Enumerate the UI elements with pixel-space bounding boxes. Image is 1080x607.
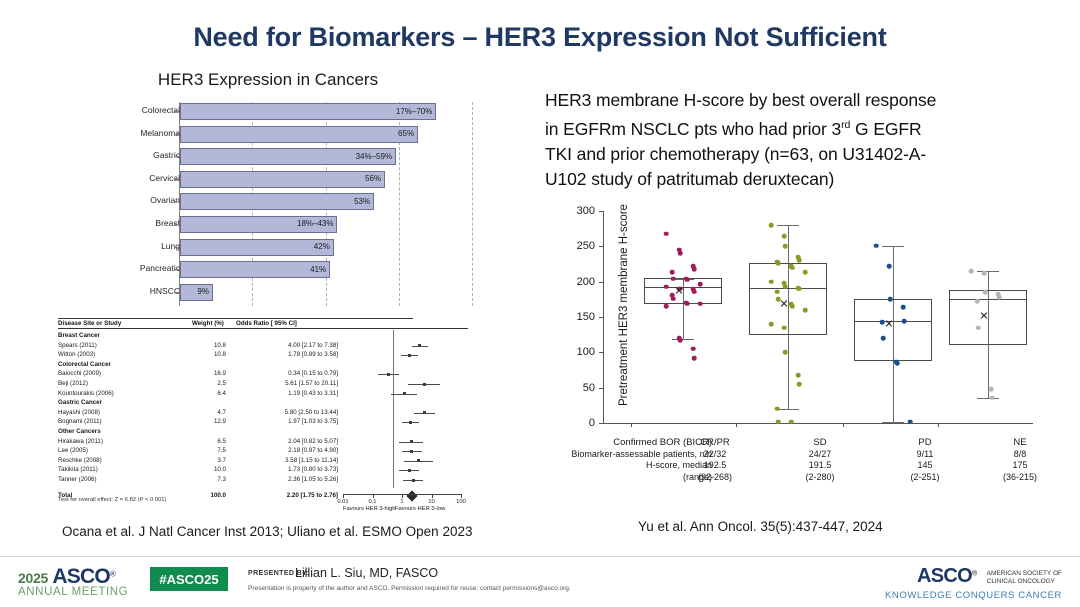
boxplot-mean-marker: ✕ <box>979 312 988 323</box>
data-point <box>685 277 690 282</box>
forest-odds-ratio: 2.36 [1.05 to 5.26] <box>230 476 338 483</box>
data-point <box>982 271 987 276</box>
slide-root: Need for Biomarkers – HER3 Expression No… <box>0 0 1080 607</box>
data-point <box>698 282 703 287</box>
data-point <box>990 395 995 400</box>
forest-study-name: Reschke (2008) <box>58 457 102 464</box>
bar-category-label: Melanoma <box>140 128 180 138</box>
forest-weight: 16.9 <box>188 370 226 377</box>
data-point <box>908 419 913 424</box>
forest-weight: 6.4 <box>188 390 226 397</box>
boxplot-mean-marker: ✕ <box>884 320 893 331</box>
y-axis-tick-label: 250 <box>577 240 595 252</box>
permission-text: Presentation is property of the author a… <box>248 585 571 592</box>
divider <box>58 318 413 319</box>
data-point <box>783 244 788 249</box>
bar-value-label: 42% <box>314 242 330 251</box>
left-panel: HER3 Expression in Cancers Colorectal17%… <box>58 70 478 515</box>
bar-category-label: Gastric <box>153 150 180 160</box>
heading-ordinal: rd <box>841 119 850 131</box>
asco-wordmark: ASCO <box>917 565 972 588</box>
summary-table-cell: 24/27 <box>809 449 832 459</box>
bar-value-label: 56% <box>365 174 381 183</box>
bar-value-label: 53% <box>354 197 370 206</box>
boxplot-whisker-cap <box>777 225 799 226</box>
bar-value-label: 17%–70% <box>396 107 432 116</box>
page-title: Need for Biomarkers – HER3 Expression No… <box>0 22 1080 53</box>
boxplot-median-line <box>949 299 1027 300</box>
summary-table-cell: (92-268) <box>698 472 732 482</box>
bar-track: 18%–43% <box>180 216 473 233</box>
hashtag-badge: #ASCO25 <box>150 567 228 591</box>
bar-tick <box>174 134 179 135</box>
summary-table-row-label: Biomarker-assessable patients, n/n <box>571 449 712 459</box>
forest-weight: 2.5 <box>188 380 226 387</box>
bar-value-label: 9% <box>197 287 209 296</box>
summary-table-cell: (2-251) <box>910 472 939 482</box>
bar-value-label: 34%–59% <box>356 152 392 161</box>
forest-odds-ratio: 1.97 [1.03 to 3.75] <box>230 418 338 425</box>
summary-table-row: (range)(92-268)(2-280)(2-251)(36-215) <box>520 472 1045 484</box>
data-point <box>776 261 781 266</box>
right-panel: HER3 membrane H-score by best overall re… <box>545 88 1045 192</box>
data-point <box>692 267 697 272</box>
forest-odds-ratio: 3.58 [1.15 to 11.14] <box>230 457 338 464</box>
y-axis-tick <box>599 246 603 247</box>
boxplot-whisker-cap <box>672 339 694 340</box>
forest-study-name: Spears (2011) <box>58 342 97 349</box>
summary-table-cell: 175 <box>1012 460 1027 470</box>
y-axis-tick-label: 0 <box>589 417 595 429</box>
summary-table-cell: (2-280) <box>805 472 834 482</box>
data-point <box>692 289 697 294</box>
logo-asco-wordmark: ASCO <box>52 565 109 588</box>
bar-row: Colorectal17%–70% <box>58 102 478 125</box>
forest-weight: 10.8 <box>188 342 226 349</box>
y-axis-tick-label: 300 <box>577 205 595 217</box>
summary-table-cell: PD <box>918 437 931 448</box>
heading-line-3: TKI and prior chemotherapy (n=63, on U31… <box>545 144 926 164</box>
summary-table-cell: 192.5 <box>704 460 727 470</box>
citation-left: Ocana et al. J Natl Cancer Inst 2013; Ul… <box>62 524 472 539</box>
summary-table-row: H-score, median192.5191.5145175 <box>520 460 1045 472</box>
y-axis-tick <box>599 423 603 424</box>
forest-odds-ratio: 1.78 [0.89 to 3.58] <box>230 351 338 358</box>
bar-track: 56% <box>180 171 473 188</box>
asco-tagline: KNOWLEDGE CONQUERS CANCER <box>885 590 1062 601</box>
bar-fill <box>180 171 385 188</box>
boxplot-heading: HER3 membrane H-score by best overall re… <box>545 88 1045 192</box>
bar-track: 42% <box>180 239 473 256</box>
divider <box>58 328 468 329</box>
bar-row: HNSCC9% <box>58 283 478 306</box>
forest-row: Reschke (2008)3.73.58 [1.15 to 11.14] <box>58 457 478 467</box>
bar-tick <box>174 201 179 202</box>
bar-row: Breast18%–43% <box>58 215 478 238</box>
heading-line-2-post: G EGFR <box>850 119 921 139</box>
forest-study-name: Baiocchi (2009) <box>58 370 101 377</box>
summary-table-cell: CR/PR <box>700 437 730 448</box>
y-axis-tick <box>599 352 603 353</box>
data-point <box>797 258 802 263</box>
data-point <box>902 319 907 324</box>
boxplot-whisker-cap <box>882 422 904 423</box>
y-axis-tick <box>599 317 603 318</box>
boxplot-median-line <box>749 288 827 289</box>
bar-track: 41% <box>180 261 473 278</box>
y-axis-tick-label: 50 <box>583 382 595 394</box>
data-point <box>691 347 696 352</box>
data-point <box>775 407 780 412</box>
data-point <box>769 223 774 228</box>
bar-category-label: Colorectal <box>142 105 180 115</box>
y-axis-tick <box>599 211 603 212</box>
forest-weight: 6.5 <box>188 438 226 445</box>
forest-weight: 4.7 <box>188 409 226 416</box>
forest-odds-ratio: 2.04 [0.82 to 5.07] <box>230 438 338 445</box>
data-point <box>797 382 802 387</box>
bar-row: Gastric34%–59% <box>58 147 478 170</box>
boxplot-whisker-cap <box>977 271 999 272</box>
data-point <box>997 295 1002 300</box>
forest-row: Other Cancers <box>58 428 478 438</box>
forest-row: Hayashi (2008)4.75.80 [2.50 to 13.44] <box>58 409 478 419</box>
bar-chart-title: HER3 Expression in Cancers <box>58 70 478 90</box>
forest-row: Tanner (2006)7.32.36 [1.05 to 5.26] <box>58 476 478 486</box>
logo-annual-meeting: ANNUAL MEETING <box>18 586 138 598</box>
data-point <box>803 270 808 275</box>
forest-study-name: Gastric Cancer <box>58 399 102 406</box>
boxplot-area: 050100150200250300✕✕✕✕ <box>603 211 1033 423</box>
bar-track: 17%–70% <box>180 103 473 120</box>
boxplot-mean-marker: ✕ <box>674 286 683 297</box>
forest-row: Lee (2005)7.52.18 [0.97 to 4.90] <box>58 447 478 457</box>
data-point <box>887 264 892 269</box>
x-axis-tick <box>736 423 737 427</box>
bar-fill <box>180 239 334 256</box>
data-point <box>895 361 900 366</box>
data-point <box>881 336 886 341</box>
summary-table-cell: 9/11 <box>917 449 934 459</box>
bar-track: 34%–59% <box>180 148 473 165</box>
bar-row: Lung42% <box>58 238 478 261</box>
forest-odds-ratio: 1.73 [0.80 to 3.73] <box>230 466 338 473</box>
forest-study-name: Witton (2003) <box>58 351 95 358</box>
bar-value-label: 18%–43% <box>297 219 333 228</box>
y-axis-tick <box>599 282 603 283</box>
boxplot-summary-table: Confirmed BOR (BICR)CR/PRSDPDNEBiomarker… <box>520 437 1045 483</box>
summary-table-cell: 8/8 <box>1014 449 1027 459</box>
data-point <box>671 277 676 282</box>
registered-mark-icon: ® <box>972 571 977 578</box>
bar-category-label: Cervical <box>149 173 180 183</box>
forest-study-name: Bognami (2011) <box>58 418 102 425</box>
data-point <box>803 308 808 313</box>
data-point <box>983 290 988 295</box>
bar-row: Ovarian53% <box>58 192 478 215</box>
forest-odds-ratio: 5.61 [1.57 to 20.11] <box>230 380 338 387</box>
forest-row: Witton (2003)10.81.78 [0.89 to 3.58] <box>58 351 478 361</box>
summary-table-cell: 145 <box>917 460 932 470</box>
bar-category-label: Pancreatic <box>140 263 180 273</box>
bar-row: Melanoma65% <box>58 125 478 148</box>
data-point <box>782 325 787 330</box>
forest-study-name: Hayashi (2008) <box>58 409 100 416</box>
forest-study-name: Total <box>58 492 72 499</box>
forest-odds-ratio: 2.20 [1.75 to 2.76] <box>230 492 338 499</box>
summary-table-row: Confirmed BOR (BICR)CR/PRSDPDNE <box>520 437 1045 449</box>
summary-table-cell: 22/32 <box>704 449 727 459</box>
forest-header-odds-ratio: Odds Ratio [ 95% CI] <box>236 320 297 327</box>
forest-study-name: Colorectal Cancer <box>58 361 111 368</box>
forest-row: Kountourakis (2006)6.41.19 [0.43 to 3.31… <box>58 390 478 400</box>
bar-row: Pancreatic41% <box>58 260 478 283</box>
data-point <box>790 265 795 270</box>
data-point <box>775 289 780 294</box>
society-name: AMERICAN SOCIETY OF CLINICAL ONCOLOGY <box>987 570 1062 586</box>
forest-odds-ratio: 2.18 [0.97 to 4.90] <box>230 447 338 454</box>
forest-weight: 7.3 <box>188 476 226 483</box>
boxplot-whisker-cap <box>777 409 799 410</box>
x-axis-line <box>603 423 1033 424</box>
data-point <box>874 243 879 248</box>
presenter-name: Lillian L. Siu, MD, FASCO <box>295 566 438 580</box>
x-axis-tick <box>938 423 939 427</box>
forest-study-name: Other Cancers <box>58 428 101 435</box>
data-point <box>670 270 675 275</box>
heading-line-1: HER3 membrane H-score by best overall re… <box>545 90 936 110</box>
heading-line-4: U102 study of patritumab deruxtecan) <box>545 169 834 189</box>
data-point <box>976 325 981 330</box>
bar-row: Cervical56% <box>58 170 478 193</box>
heading-line-2-pre: in EGFRm NSCLC pts who had prior 3 <box>545 119 841 139</box>
bar-category-label: Ovarian <box>150 195 180 205</box>
boxplot-whisker-cap <box>882 246 904 247</box>
forest-weight: 10.8 <box>188 351 226 358</box>
bar-category-label: HNSCC <box>150 286 180 296</box>
her3-expression-bar-chart: Colorectal17%–70%Melanoma65%Gastric34%–5… <box>58 102 478 306</box>
summary-table-row: Biomarker-assessable patients, n/n22/322… <box>520 449 1045 461</box>
bar-tick <box>174 269 179 270</box>
bar-fill <box>180 126 418 143</box>
bar-value-label: 65% <box>398 129 414 138</box>
data-point <box>664 231 669 236</box>
bar-category-label: Lung <box>161 241 180 251</box>
forest-row: Colorectal Cancer <box>58 361 478 371</box>
asco-annual-meeting-logo: 2025 ASCO® ANNUAL MEETING <box>18 565 138 598</box>
forest-study-name: Hirakawa (2011) <box>58 438 103 445</box>
bar-track: 65% <box>180 126 473 143</box>
data-point <box>769 279 774 284</box>
bar-tick <box>174 156 179 157</box>
data-point <box>989 387 994 392</box>
data-point <box>796 373 801 378</box>
society-line-2: CLINICAL ONCOLOGY <box>987 578 1055 585</box>
data-point <box>789 419 794 424</box>
data-point <box>692 356 697 361</box>
bar-tick <box>174 179 179 180</box>
data-point <box>782 234 787 239</box>
forest-row: Beji (2012)2.55.61 [1.57 to 20.11] <box>58 380 478 390</box>
y-axis-line <box>603 211 604 423</box>
boxplot-mean-marker: ✕ <box>779 299 788 310</box>
forest-row: Spears (2011)10.84.00 [2.17 to 7.38] <box>58 342 478 352</box>
logo-right-row: ASCO® AMERICAN SOCIETY OF CLINICAL ONCOL… <box>885 565 1062 588</box>
summary-table-cell: SD <box>813 437 826 448</box>
forest-study-name: Breast Cancer <box>58 332 100 339</box>
forest-weight: 12.9 <box>188 418 226 425</box>
bar-value-label: 41% <box>310 265 326 274</box>
society-line-1: AMERICAN SOCIETY OF <box>987 570 1062 577</box>
data-point <box>901 305 906 310</box>
footer-bar: 2025 ASCO® ANNUAL MEETING #ASCO25 PRESEN… <box>0 557 1080 607</box>
forest-row: Total100.02.20 [1.75 to 2.76] <box>58 492 478 502</box>
summary-table-cell: 191.5 <box>809 460 832 470</box>
forest-row: Hirakawa (2011)6.52.04 [0.82 to 5.07] <box>58 438 478 448</box>
summary-table-row-label: Confirmed BOR (BICR) <box>613 437 712 448</box>
forest-study-name: Beji (2012) <box>58 380 88 387</box>
data-point <box>769 322 774 327</box>
summary-table-cell: NE <box>1013 437 1026 448</box>
bar-track: 9% <box>180 284 473 301</box>
forest-weight: 7.5 <box>188 447 226 454</box>
forest-row: Bognami (2011)12.91.97 [1.03 to 3.75] <box>58 418 478 428</box>
forest-header-study: Disease Site or Study <box>58 320 121 327</box>
axis-favours-right: Favours HER 3-low <box>395 506 445 512</box>
asco-society-logo: ASCO® AMERICAN SOCIETY OF CLINICAL ONCOL… <box>885 565 1062 601</box>
forest-study-name: Tanner (2006) <box>58 476 97 483</box>
data-point <box>698 301 703 306</box>
data-point <box>790 304 795 309</box>
data-point <box>783 350 788 355</box>
data-point <box>969 269 974 274</box>
bar-tick <box>174 111 179 112</box>
y-axis-tick-label: 200 <box>577 276 595 288</box>
forest-odds-ratio: 0.34 [0.15 to 0.79] <box>230 370 338 377</box>
x-axis-tick <box>631 423 632 427</box>
data-point <box>888 297 893 302</box>
y-axis-tick-label: 150 <box>577 311 595 323</box>
forest-row: Gastric Cancer <box>58 399 478 409</box>
registered-mark-icon: ® <box>110 570 116 579</box>
boxplot-whisker-cap <box>977 398 999 399</box>
data-point <box>664 284 669 289</box>
bar-tick <box>174 224 179 225</box>
forest-study-name: Lee (2005) <box>58 447 88 454</box>
forest-odds-ratio: 5.80 [2.50 to 13.44] <box>230 409 338 416</box>
forest-odds-ratio: 4.00 [2.17 to 7.38] <box>230 342 338 349</box>
bar-track: 53% <box>180 193 473 210</box>
forest-row: Takikita (2011)10.01.73 [0.80 to 3.73] <box>58 466 478 476</box>
bar-tick <box>174 247 179 248</box>
logo-year: 2025 <box>18 570 48 586</box>
data-point <box>975 299 980 304</box>
forest-weight: 100.0 <box>188 492 226 499</box>
forest-study-name: Takikita (2011) <box>58 466 98 473</box>
data-point <box>678 251 683 256</box>
forest-study-name: Kountourakis (2006) <box>58 390 114 397</box>
bar-fill <box>180 261 330 278</box>
bar-tick <box>174 292 179 293</box>
bar-fill <box>180 193 374 210</box>
summary-table-row-label: H-score, median <box>646 460 712 470</box>
forest-odds-ratio: 1.19 [0.43 to 3.31] <box>230 390 338 397</box>
data-point <box>678 338 683 343</box>
forest-header-weight: Weight (%) <box>192 320 224 327</box>
forest-row: Breast Cancer <box>58 332 478 342</box>
forest-row: Baiocchi (2009)16.90.34 [0.15 to 0.79] <box>58 370 478 380</box>
bar-category-label: Breast <box>155 218 180 228</box>
forest-weight: 3.7 <box>188 457 226 464</box>
axis-favours-left: Favours HER 3-high <box>343 506 396 512</box>
data-point <box>664 304 669 309</box>
summary-table-cell: (36-215) <box>1003 472 1037 482</box>
y-axis-tick <box>599 388 603 389</box>
data-point <box>797 286 802 291</box>
forest-plot: Disease Site or Study Weight (%) Odds Ra… <box>58 306 478 511</box>
y-axis-tick-label: 100 <box>577 346 595 358</box>
data-point <box>685 301 690 306</box>
forest-weight: 10.0 <box>188 466 226 473</box>
data-point <box>776 419 781 424</box>
data-point <box>783 284 788 289</box>
x-axis-tick <box>843 423 844 427</box>
citation-right: Yu et al. Ann Oncol. 35(5):437-447, 2024 <box>638 519 883 534</box>
